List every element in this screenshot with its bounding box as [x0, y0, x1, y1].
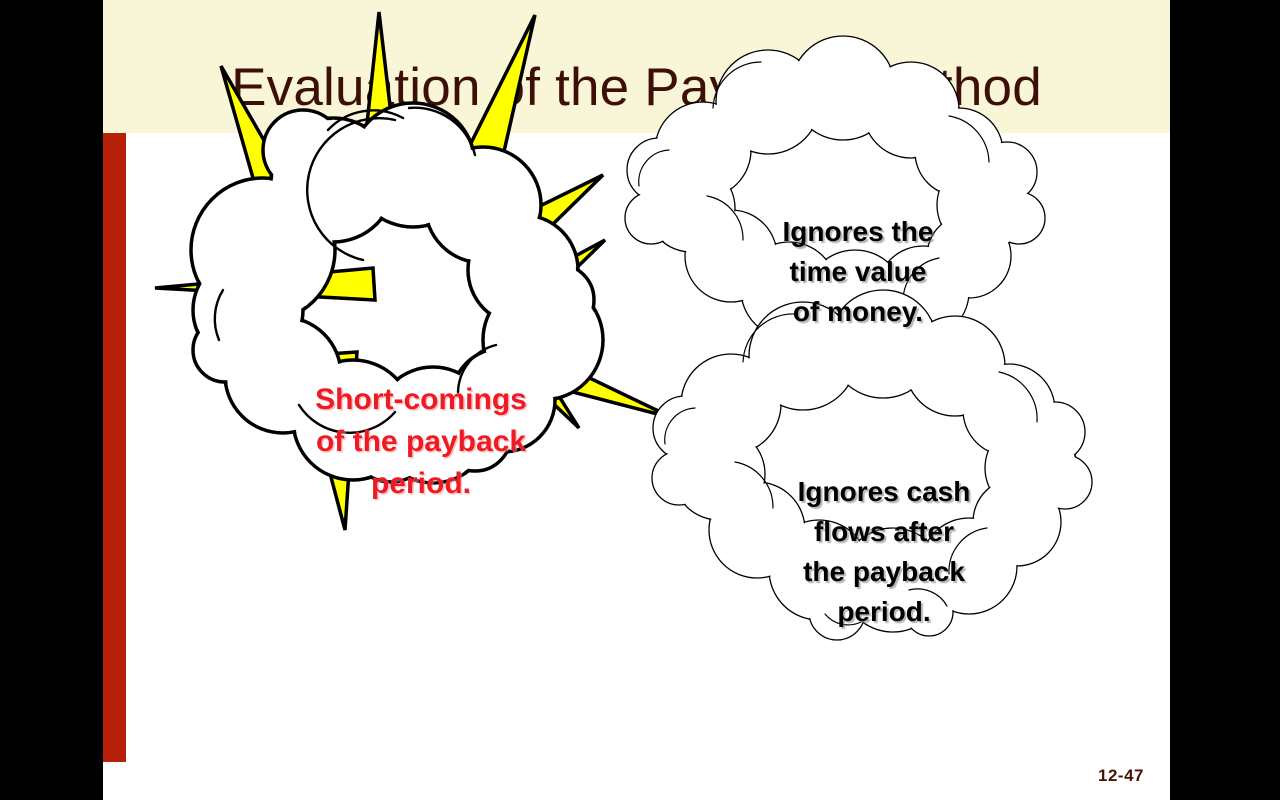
slide-viewport: Evaluation of the Payback Method — [0, 0, 1280, 800]
page-title: Evaluation of the Payback Method — [103, 58, 1170, 118]
cloud2-line-3: the payback — [739, 552, 1029, 592]
page-number: 12-47 — [1098, 766, 1144, 786]
cloud2-line-2: flows after — [739, 512, 1029, 552]
cloud2-line-1: Ignores cash — [739, 472, 1029, 512]
cloud1-line-1: Ignores the — [723, 212, 993, 252]
cloud1-line-3: of money. — [723, 292, 993, 332]
title-band: Evaluation of the Payback Method — [103, 0, 1170, 133]
explosion-callout-text: Short-comings of the payback period. — [281, 379, 561, 505]
slide-canvas: Evaluation of the Payback Method — [103, 0, 1170, 800]
thought-cloud-time-value-text: Ignores the time value of money. — [723, 212, 993, 332]
cloud1-line-2: time value — [723, 252, 993, 292]
accent-bar — [103, 133, 126, 762]
explosion-line-1: Short-comings — [281, 379, 561, 421]
thought-cloud-cash-flows-text: Ignores cash flows after the payback per… — [739, 472, 1029, 632]
explosion-line-3: period. — [281, 463, 561, 505]
cloud2-line-4: period. — [739, 592, 1029, 632]
explosion-line-2: of the payback — [281, 421, 561, 463]
